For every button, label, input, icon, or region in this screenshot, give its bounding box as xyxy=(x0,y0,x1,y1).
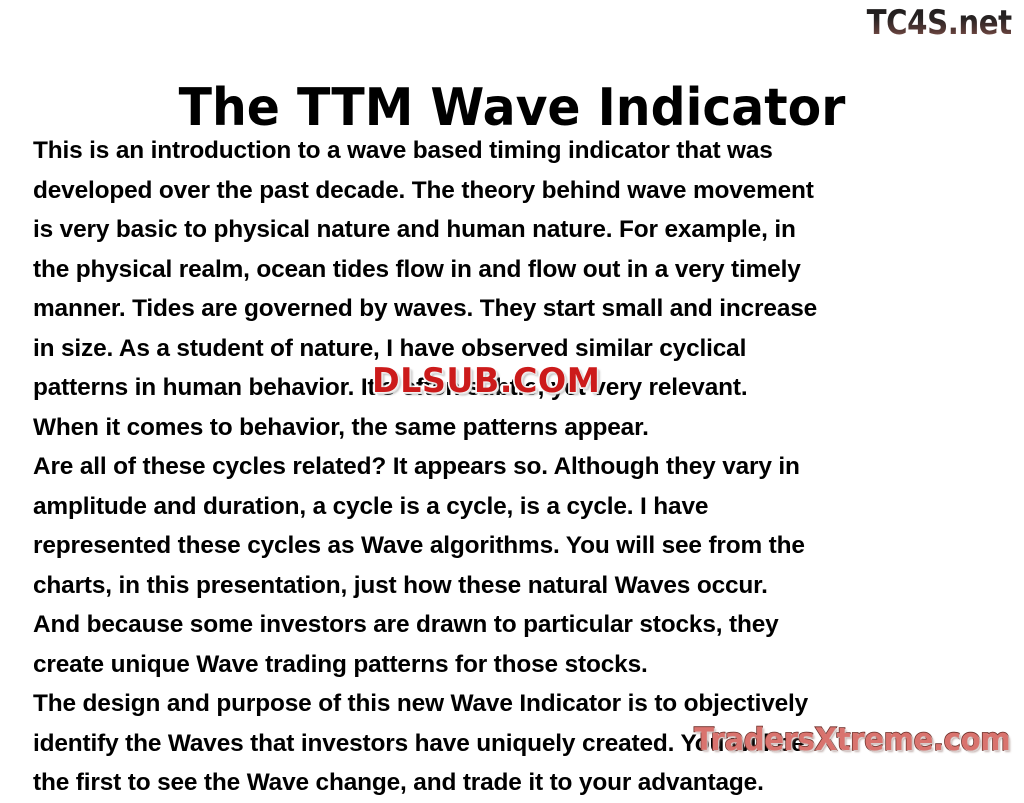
body-line: charts, in this presentation, just how t… xyxy=(33,566,1001,606)
body-text-block: This is an introduction to a wave based … xyxy=(33,131,1001,803)
body-line: developed over the past decade. The theo… xyxy=(33,171,1001,211)
body-line: represented these cycles as Wave algorit… xyxy=(33,526,1001,566)
body-line: create unique Wave trading patterns for … xyxy=(33,645,1001,685)
body-line: the first to see the Wave change, and tr… xyxy=(33,763,1001,803)
body-line: This is an introduction to a wave based … xyxy=(33,131,1001,171)
body-line: amplitude and duration, a cycle is a cyc… xyxy=(33,487,1001,527)
body-line: the physical realm, ocean tides flow in … xyxy=(33,250,1001,290)
body-line: is very basic to physical nature and hum… xyxy=(33,210,1001,250)
body-line: And because some investors are drawn to … xyxy=(33,605,1001,645)
page-title: The TTM Wave Indicator xyxy=(31,77,994,139)
body-line: Are all of these cycles related? It appe… xyxy=(33,447,1001,487)
brand-logo: TC4S.net xyxy=(867,4,1012,42)
body-line: The design and purpose of this new Wave … xyxy=(33,684,1001,724)
body-line: When it comes to behavior, the same patt… xyxy=(33,408,1001,448)
footer-watermark: TradersXtreme.com xyxy=(694,722,1010,758)
center-watermark: DLSUB.COM xyxy=(372,362,600,400)
body-line: manner. Tides are governed by waves. The… xyxy=(33,289,1001,329)
